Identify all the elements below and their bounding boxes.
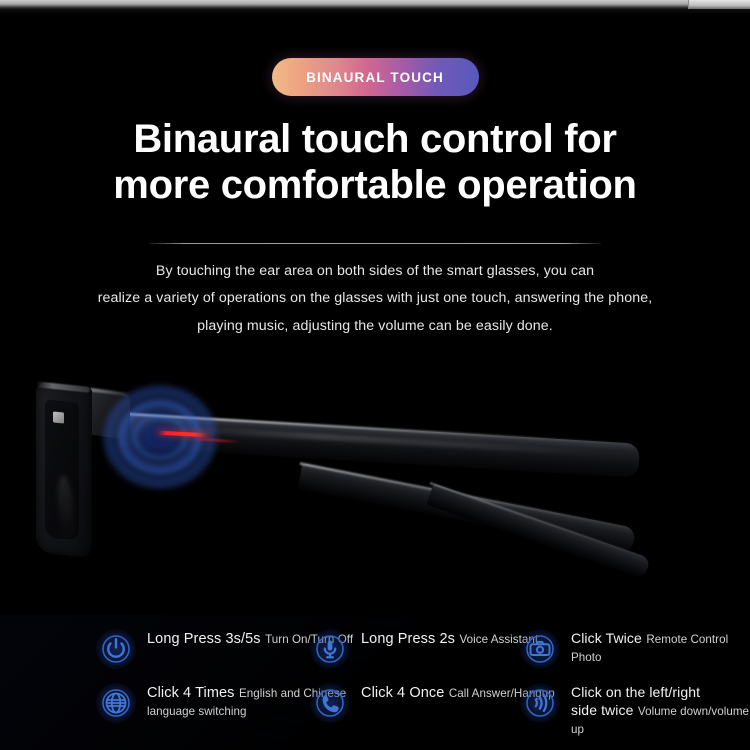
promo-page: BINAURAL TOUCH Binaural touch control fo… — [0, 0, 750, 750]
binaural-touch-badge: BINAURAL TOUCH — [272, 58, 479, 96]
section-divider — [149, 243, 601, 244]
feature-title: Click 4 Times — [147, 685, 235, 701]
phone-icon — [310, 683, 350, 723]
feature-text: Long Press 2s Voice Assistant — [361, 629, 538, 648]
description-paragraph: By touching the ear area on both sides o… — [30, 258, 720, 340]
feature-item-voice-assistant: Long Press 2s Voice Assistant — [310, 629, 538, 669]
microphone-icon — [310, 629, 350, 669]
camera-icon — [520, 629, 560, 669]
feature-title: Long Press 2s — [361, 631, 455, 647]
headline-line-2: more comfortable operation — [0, 162, 750, 208]
feature-item-language: Click 4 Times English and Chinese langua… — [96, 683, 346, 723]
feature-title: Click Twice — [571, 630, 642, 646]
feature-item-call: Click 4 Once Call Answer/Hangup — [310, 683, 555, 723]
paragraph-line-3: playing music, adjusting the volume can … — [30, 313, 720, 340]
badge-container: BINAURAL TOUCH — [0, 58, 750, 96]
chrome-shadow — [0, 9, 750, 14]
headline-line-1: Binaural touch control for — [0, 116, 750, 162]
paragraph-line-1: By touching the ear area on both sides o… — [30, 258, 720, 285]
power-icon — [96, 629, 136, 669]
brand-logo-chip — [53, 411, 64, 423]
feature-title: Click 4 Once — [361, 685, 444, 701]
feature-text: Click on the left/right side twice Volum… — [571, 683, 750, 738]
feature-title: Long Press 3s/5s — [147, 631, 261, 647]
browser-tab[interactable] — [688, 0, 750, 9]
page-title: Binaural touch control for more comforta… — [0, 116, 750, 209]
browser-chrome-strip — [0, 0, 750, 9]
feature-grid: Long Press 3s/5s Turn On/Turn Off Long P… — [0, 615, 750, 750]
temple-tip-highlight — [430, 482, 653, 561]
ripple-core — [143, 424, 177, 450]
feature-text: Click Twice Remote Control Photo — [571, 629, 750, 666]
badge-label: BINAURAL TOUCH — [306, 70, 444, 85]
product-image — [0, 355, 750, 600]
touch-wave-icon — [520, 683, 560, 723]
feature-item-volume: Click on the left/right side twice Volum… — [520, 683, 750, 738]
feature-item-camera: Click Twice Remote Control Photo — [520, 629, 750, 669]
paragraph-line-2: realize a variety of operations on the g… — [30, 285, 720, 312]
globe-icon — [96, 683, 136, 723]
